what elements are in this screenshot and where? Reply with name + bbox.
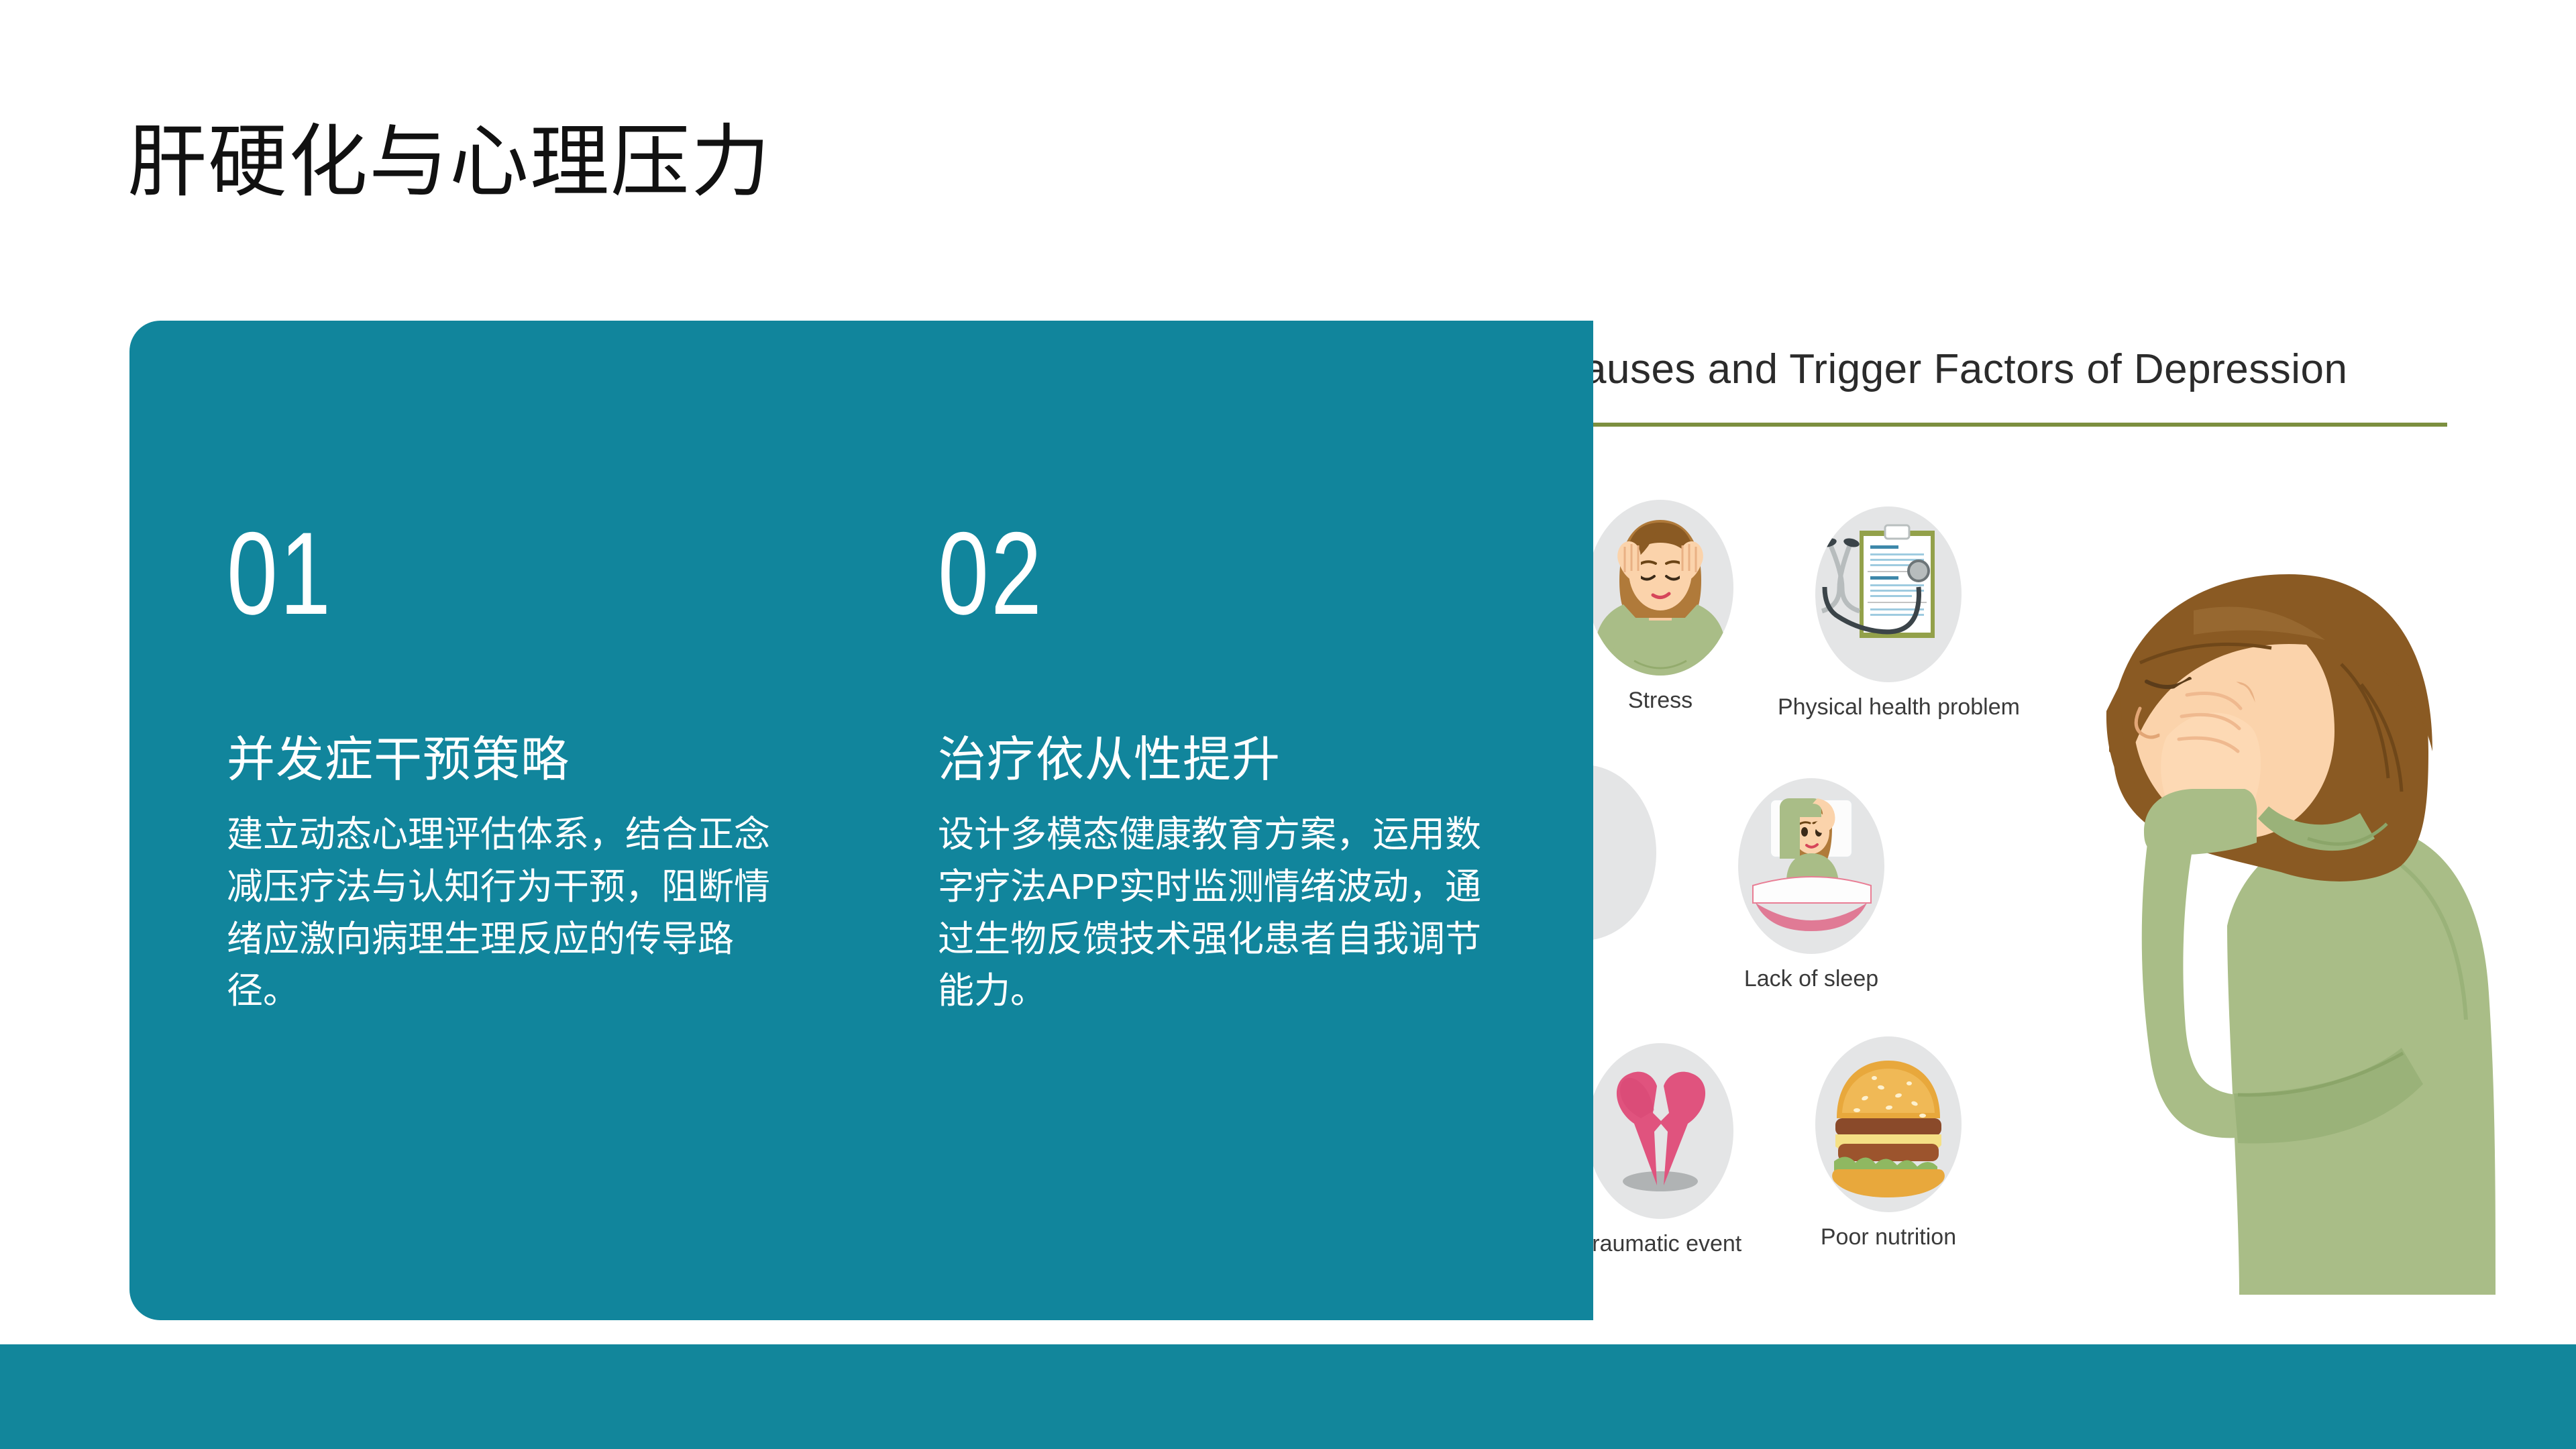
- factor-item-lack-of-sleep: Lack of sleep: [1701, 778, 1922, 992]
- column-number: 02: [938, 515, 1440, 633]
- factor-item-poor-nutrition: Poor nutrition: [1778, 1036, 1999, 1250]
- column-heading: 并发症干预策略: [227, 730, 871, 790]
- footer-bar: [0, 1344, 2576, 1449]
- illustration-header: auses and Trigger Factors of Depression: [1583, 345, 2348, 393]
- illustration-header-rule: [1576, 423, 2447, 427]
- factor-label: Physical health problem: [1778, 694, 1999, 720]
- column-body: 设计多模态健康教育方案，运用数字疗法APP实时监测情绪波动，通过生物反馈技术强化…: [938, 809, 1501, 1018]
- broken-heart-icon: [1587, 1043, 1733, 1219]
- crying-woman-illustration: [2026, 550, 2576, 1342]
- column-body: 建立动态心理评估体系，结合正念减压疗法与认知行为干预，阻断情绪应激向病理生理反应…: [227, 809, 777, 1018]
- factor-label: Poor nutrition: [1778, 1224, 1999, 1250]
- column-heading: 治疗依从性提升: [938, 730, 1582, 790]
- sleepless-woman-in-bed-icon: [1738, 778, 1884, 954]
- hamburger-icon: [1815, 1036, 1962, 1212]
- column-number: 01: [227, 515, 729, 633]
- content-column-01: 01 并发症干预策略 建立动态心理评估体系，结合正念减压疗法与认知行为干预，阻断…: [227, 515, 871, 1018]
- content-panel: 01 并发症干预策略 建立动态心理评估体系，结合正念减压疗法与认知行为干预，阻断…: [129, 321, 1593, 1320]
- illustration-panel: auses and Trigger Factors of Depression: [1476, 315, 2576, 1342]
- page-title: 肝硬化与心理压力: [127, 117, 771, 209]
- content-column-02: 02 治疗依从性提升 设计多模态健康教育方案，运用数字疗法APP实时监测情绪波动…: [938, 515, 1582, 1018]
- stressed-woman-icon: [1587, 500, 1733, 676]
- factor-item-physical-health: Physical health problem: [1778, 506, 1999, 720]
- depression-factors-grid: Stress: [1550, 500, 2006, 1285]
- clipboard-stethoscope-icon: [1815, 506, 1962, 682]
- factor-label: Lack of sleep: [1701, 966, 1922, 992]
